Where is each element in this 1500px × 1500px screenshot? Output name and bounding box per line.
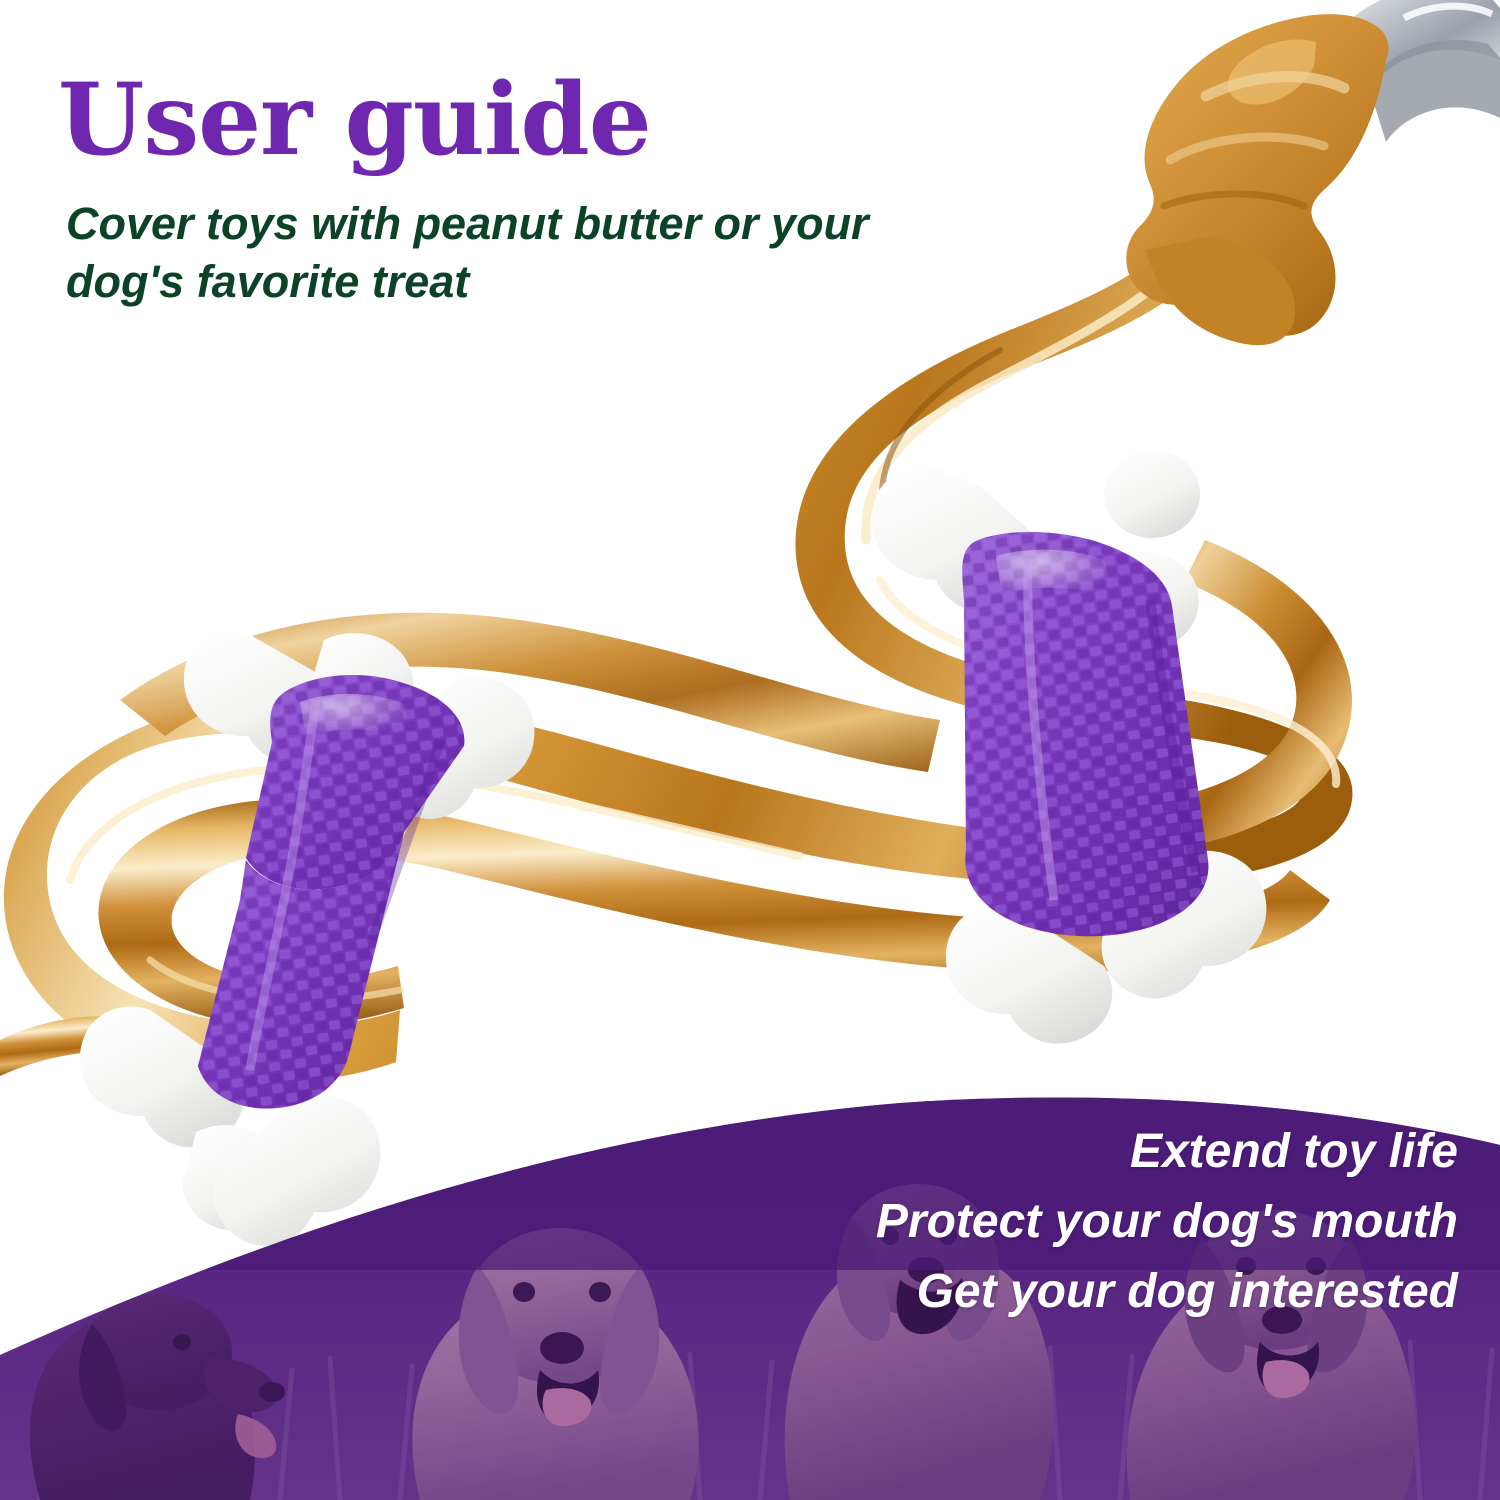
page-subtitle: Cover toys with peanut butter or your do… — [66, 195, 926, 312]
headline-block: User guide Cover toys with peanut butter… — [58, 70, 958, 312]
benefit-item-1: Extend toy life — [876, 1125, 1458, 1179]
benefit-item-3: Get your dog interested — [876, 1265, 1458, 1319]
page-title: User guide — [58, 70, 958, 171]
benefit-item-2: Protect your dog's mouth — [876, 1195, 1458, 1249]
infographic-page: User guide Cover toys with peanut butter… — [0, 0, 1500, 1500]
benefit-list: Extend toy life Protect your dog's mouth… — [876, 1125, 1458, 1318]
spoon-with-peanut-butter-icon — [1126, 0, 1500, 345]
bone-knob-top-right — [1104, 450, 1200, 538]
benefits-panel: Extend toy life Protect your dog's mouth… — [0, 1070, 1500, 1500]
